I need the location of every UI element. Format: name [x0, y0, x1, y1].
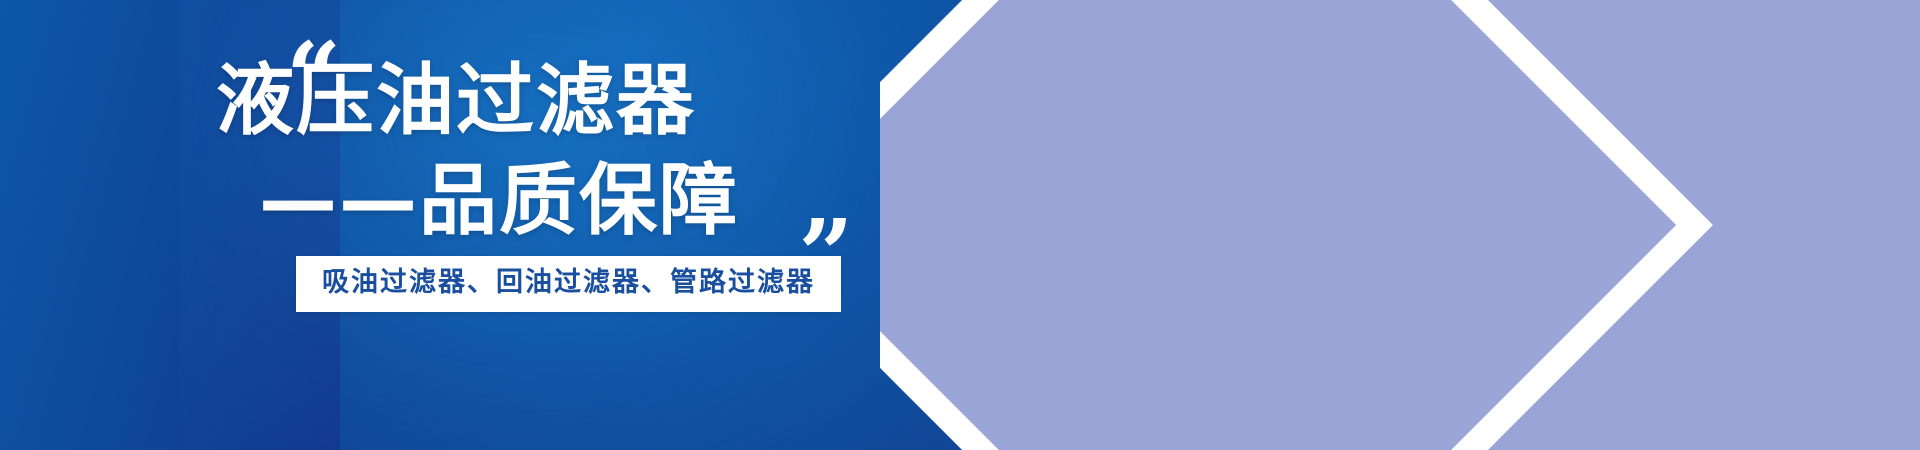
product-artwork-stage — [880, 0, 1920, 450]
subtitle-text: 吸油过滤器、回油过滤器、管路过滤器 — [322, 267, 815, 299]
closing-quote-mark: „ — [800, 152, 849, 248]
promo-banner: “ 液压油过滤器 ——品质保障 „ 吸油过滤器、回油过滤器、管路过滤器 — [0, 0, 1920, 450]
page-title: 液压油过滤器 ——品质保障 — [0, 52, 880, 252]
artwork-clip — [880, 0, 1920, 450]
headline-line-2: ——品质保障 — [0, 152, 880, 252]
headline-line-1: 液压油过滤器 — [0, 52, 880, 152]
subtitle-badge: 吸油过滤器、回油过滤器、管路过滤器 — [296, 256, 841, 312]
